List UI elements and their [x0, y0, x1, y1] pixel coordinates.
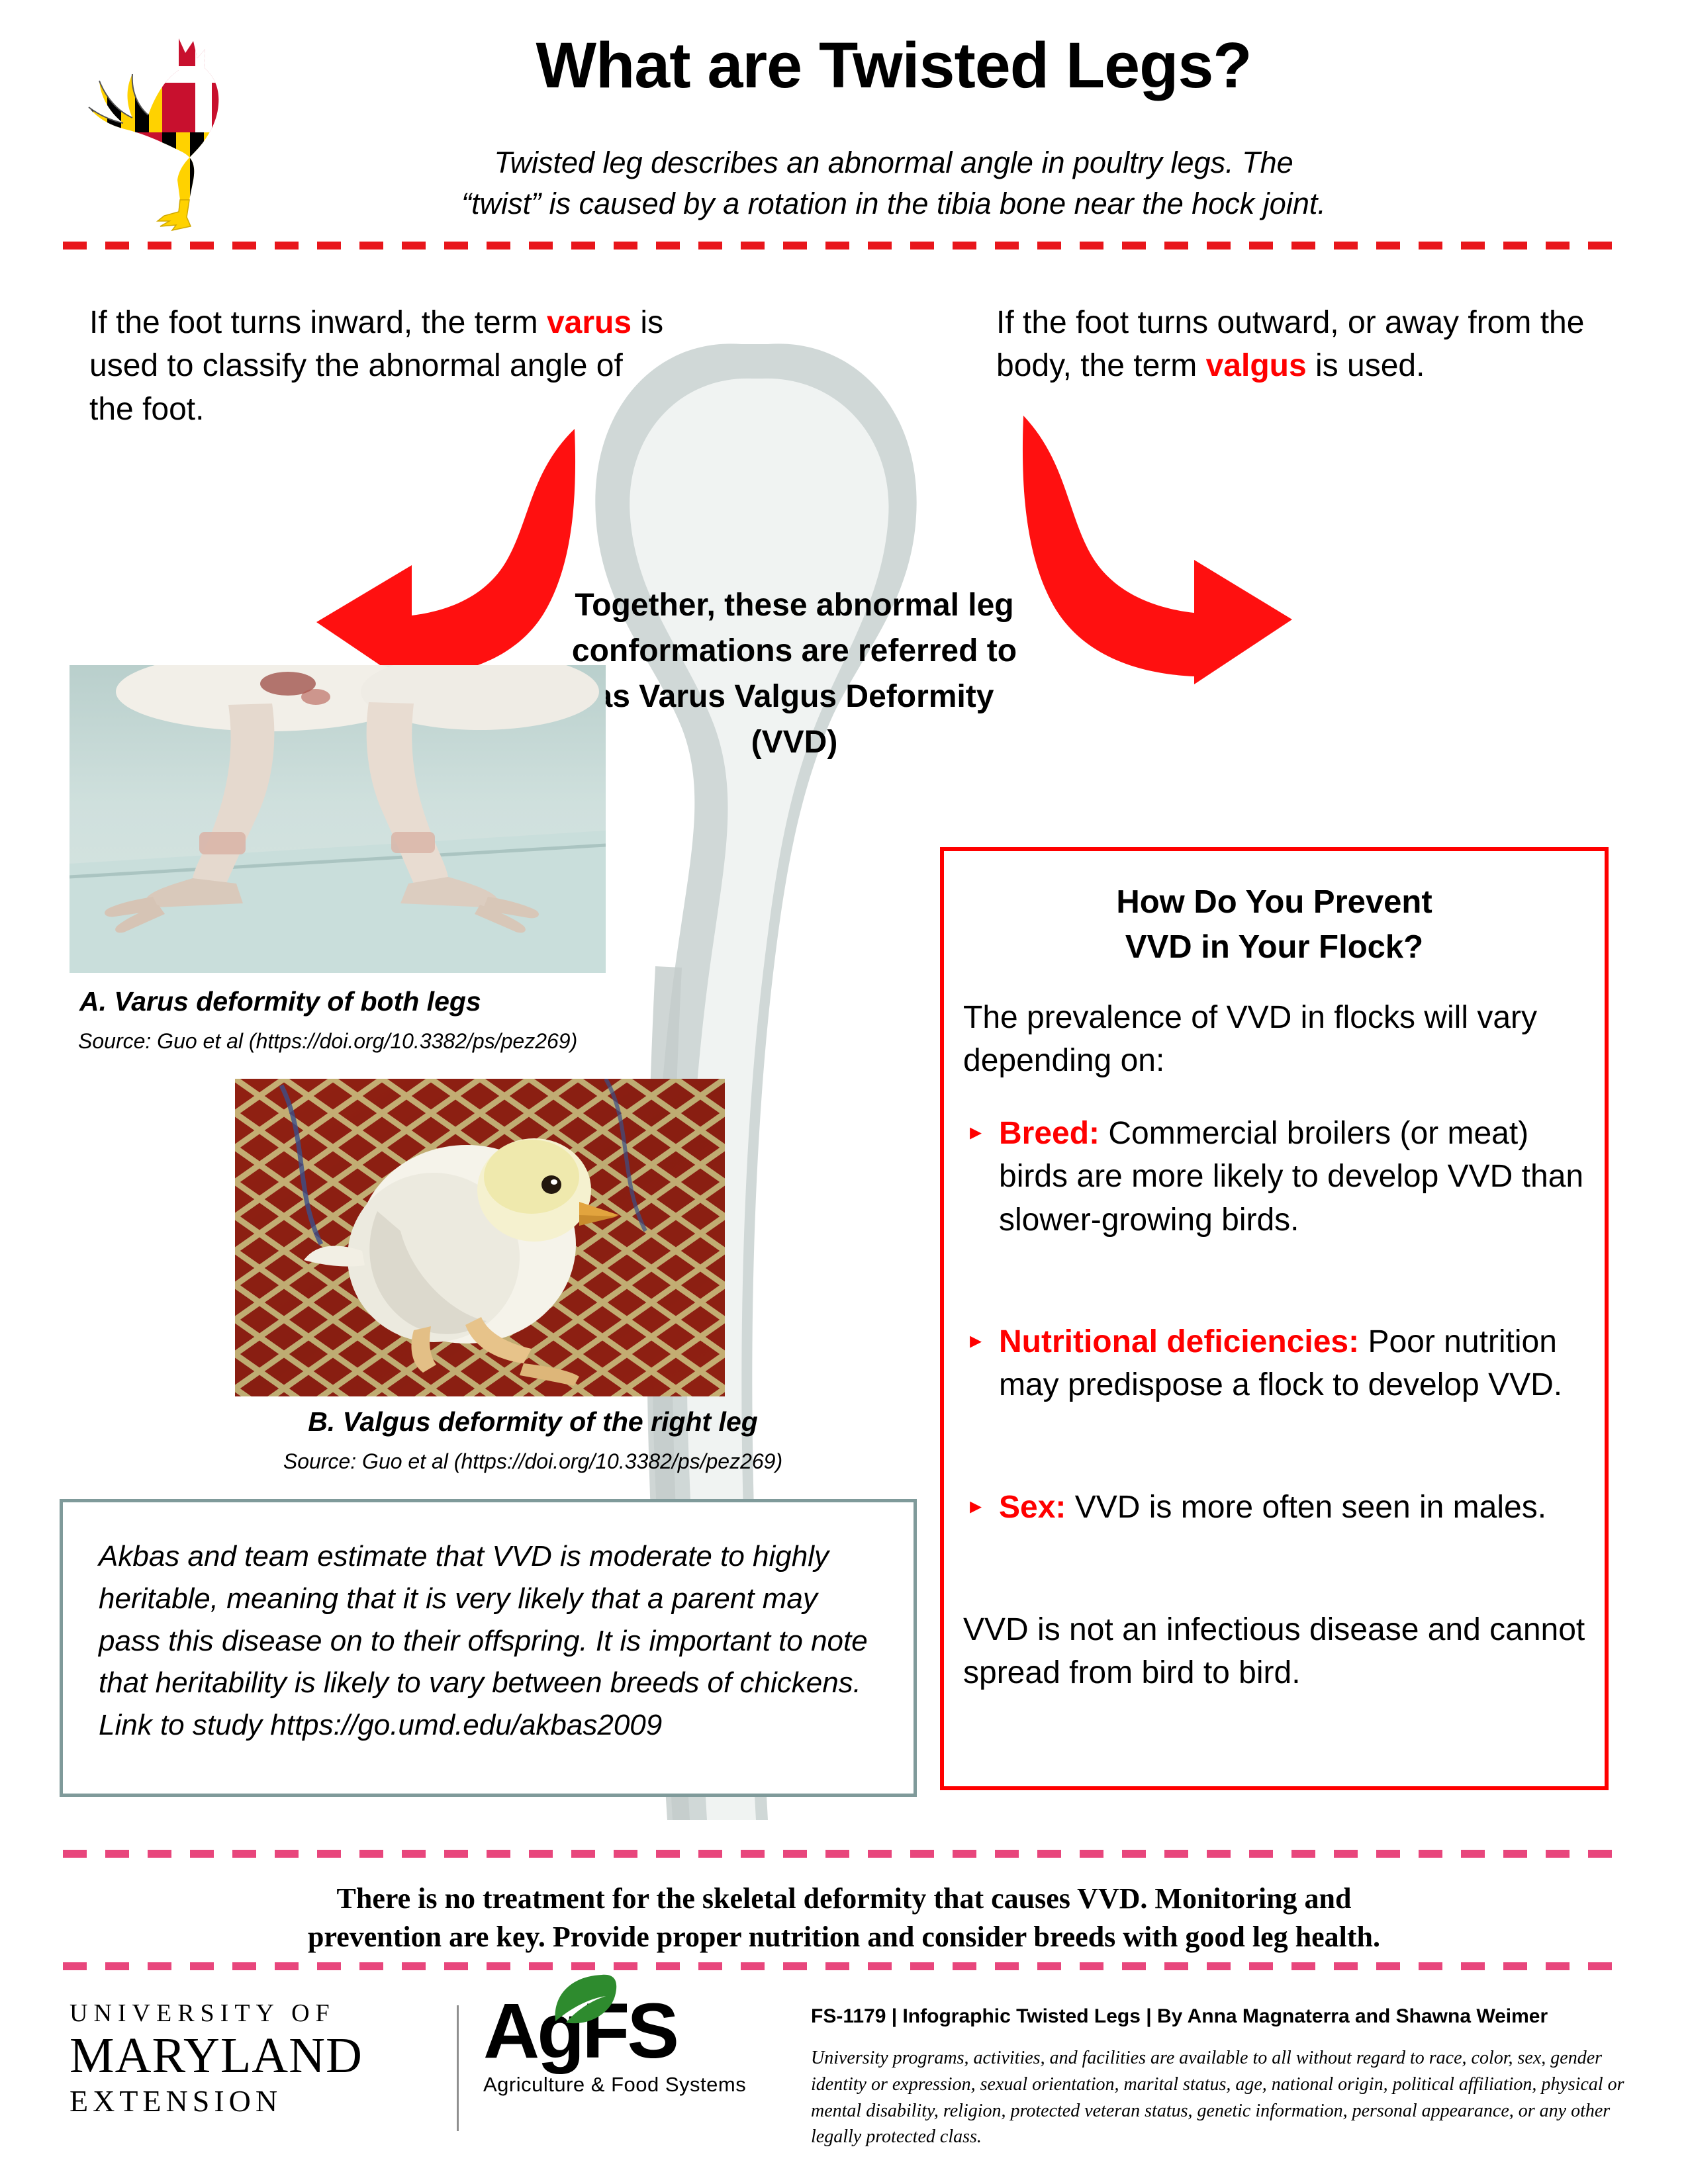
- divider-bottom-lower: [63, 1962, 1625, 1970]
- nondiscrimination-disclaimer: University programs, activities, and fac…: [811, 2045, 1625, 2150]
- header: What are Twisted Legs? Twisted leg descr…: [0, 0, 1688, 238]
- prevention-title-line-1: How Do You Prevent: [960, 880, 1589, 925]
- varus-description: If the foot turns inward, the term varus…: [89, 301, 665, 431]
- triangle-bullet-icon: ▸: [970, 1486, 999, 1529]
- triangle-bullet-icon: ▸: [970, 1112, 999, 1242]
- divider-top: [63, 242, 1625, 250]
- bottom-statement: There is no treatment for the skeletal d…: [199, 1880, 1489, 1956]
- subtitle-line-1: Twisted leg describes an abnormal angle …: [344, 142, 1443, 183]
- publication-credit: FS-1179 | Infographic Twisted Legs | By …: [811, 2005, 1638, 2028]
- varus-keyword: varus: [547, 305, 632, 340]
- bullet-sex-text: VVD is more often seen in males.: [1066, 1490, 1546, 1525]
- prevention-title-line-2: VVD in Your Flock?: [960, 925, 1589, 970]
- page-subtitle: Twisted leg describes an abnormal angle …: [344, 142, 1443, 224]
- footer-logo-divider: [457, 2005, 459, 2131]
- vvd-definition-text: Together, these abnormal leg conformatio…: [556, 582, 1033, 765]
- bottom-statement-line-1: There is no treatment for the skeletal d…: [199, 1880, 1489, 1918]
- infographic-page: What are Twisted Legs? Twisted leg descr…: [0, 0, 1688, 2184]
- bullet-nutrition-label: Nutritional deficiencies:: [999, 1324, 1359, 1359]
- subtitle-line-2: “twist” is caused by a rotation in the t…: [344, 183, 1443, 224]
- heritability-quote-box: Akbas and team estimate that VVD is mode…: [63, 1502, 914, 1794]
- umd-extension-logo: UNIVERSITY OF MARYLAND EXTENSION: [70, 1999, 440, 2118]
- varus-pre: If the foot turns inward, the term: [89, 305, 547, 340]
- figure-a-source: Source: Guo et al (https://doi.org/10.33…: [78, 1029, 707, 1054]
- umd-logo-line-1: UNIVERSITY OF: [70, 1999, 440, 2028]
- figure-b-source: Source: Guo et al (https://doi.org/10.33…: [235, 1449, 831, 1474]
- prevention-title: How Do You Prevent VVD in Your Flock?: [960, 880, 1589, 970]
- prevention-bullet-sex: ▸ Sex: VVD is more often seen in males.: [970, 1486, 1592, 1529]
- photo-valgus-chick: [235, 1079, 725, 1396]
- figure-a-caption: A. Varus deformity of both legs: [79, 986, 675, 1017]
- maryland-flag-rooster-logo: [79, 33, 245, 232]
- bullet-sex-label: Sex:: [999, 1490, 1066, 1525]
- leaf-icon: [546, 1974, 619, 2026]
- triangle-bullet-icon: ▸: [970, 1320, 999, 1407]
- valgus-post: is used.: [1307, 348, 1425, 383]
- umd-logo-line-3: EXTENSION: [70, 2083, 440, 2118]
- photo-varus-legs: [70, 665, 606, 973]
- divider-bottom-upper: [63, 1850, 1625, 1858]
- agfs-subtitle: Agriculture & Food Systems: [483, 2073, 768, 2097]
- prevention-bullet-breed: ▸ Breed: Commercial broilers (or meat) b…: [970, 1112, 1592, 1242]
- valgus-keyword: valgus: [1206, 348, 1307, 383]
- page-title: What are Twisted Legs?: [344, 32, 1443, 99]
- bottom-statement-line-2: prevention are key. Provide proper nutri…: [199, 1918, 1489, 1956]
- prevention-outro: VVD is not an infectious disease and can…: [963, 1608, 1592, 1695]
- figure-b-caption: B. Valgus deformity of the right leg: [235, 1406, 831, 1437]
- heritability-quote-text: Akbas and team estimate that VVD is mode…: [99, 1535, 883, 1747]
- prevention-intro: The prevalence of VVD in flocks will var…: [963, 996, 1585, 1083]
- bullet-breed-label: Breed:: [999, 1116, 1100, 1151]
- valgus-description: If the foot turns outward, or away from …: [996, 301, 1592, 388]
- agfs-logo: AgFS Agriculture & Food Systems: [483, 1992, 768, 2097]
- prevention-bullet-nutrition: ▸ Nutritional deficiencies: Poor nutriti…: [970, 1320, 1592, 1407]
- umd-logo-line-2: MARYLAND: [70, 2030, 440, 2081]
